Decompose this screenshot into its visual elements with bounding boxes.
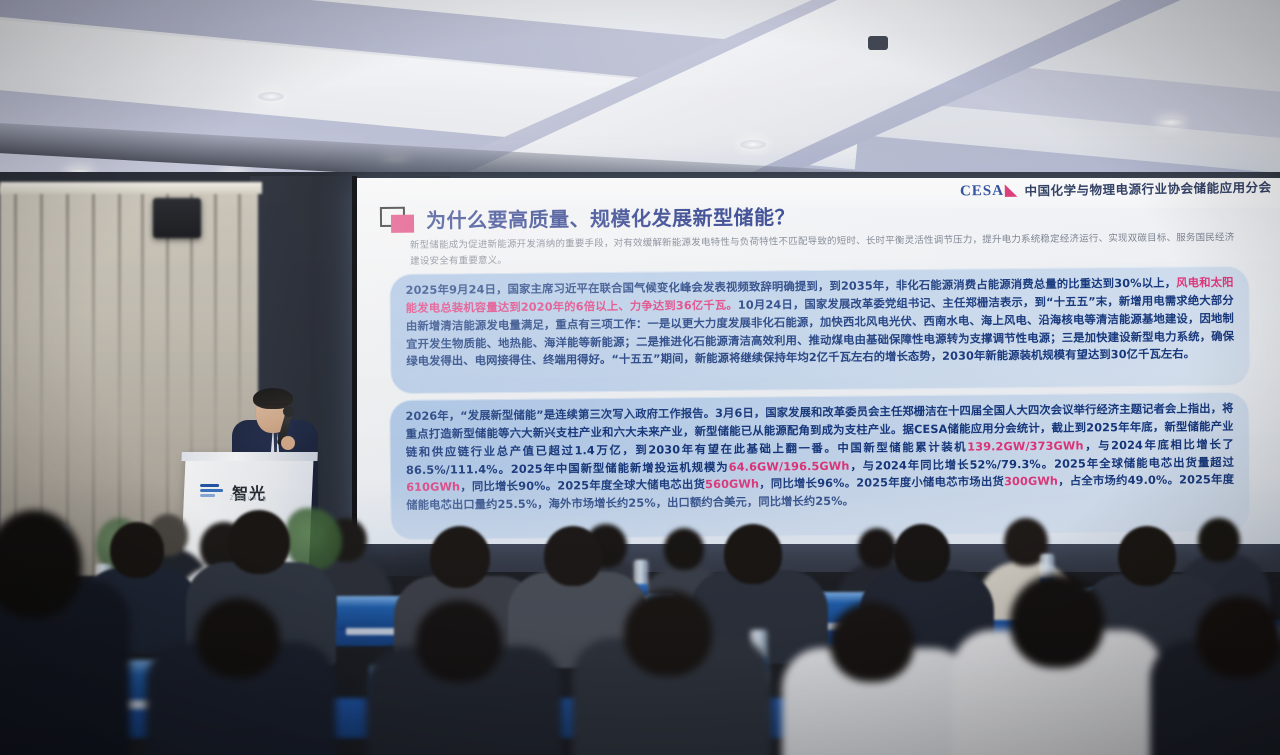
highlighted-text: 风电和太阳能发电总装机容量达到2020年的6倍以上、力争达到36亿千瓦。 [406,276,1234,315]
curtain-rail [0,182,262,194]
slide-title-row: 为什么要高质量、规模化发展新型储能？ [380,201,795,234]
slide-block-1-text: 2025年9月24日，国家主席习近平在联合国气候变化峰会发表视频致辞明确提到，到… [389,266,1250,379]
ceiling-downlight [258,92,284,101]
microphone-head-icon [283,406,294,417]
highlighted-text: 139.2GW/373GWh [967,439,1083,453]
cesa-logo-letters: CESA [960,183,1004,201]
audience-area [0,470,1280,755]
slide-subtitle: 新型储能成为促进新能源开发消纳的重要手段，对有效缓解新能源发电特性与负荷特性不匹… [410,230,1240,269]
podium-top-edge [181,452,317,461]
slide-title: 为什么要高质量、规模化发展新型储能？ [426,201,795,234]
speaker-hand [281,436,295,450]
cesa-logo-icon: CESA◣ [960,181,1018,201]
conference-photo: CESA◣ 中国化学与物理电源行业协会储能应用分会 为什么要高质量、规模化发展新… [0,0,1280,755]
ceiling-downlight [740,140,766,149]
ceiling-spotlight [868,36,888,50]
cesa-logo-accent: ◣ [1005,181,1018,200]
wall-speaker-icon [153,198,201,238]
slide-content-block-1: 2025年9月24日，国家主席习近平在联合国气候变化峰会发表视频致辞明确提到，到… [389,266,1250,394]
ceiling-downlight [1158,118,1184,127]
square-decoration-icon [380,206,414,232]
